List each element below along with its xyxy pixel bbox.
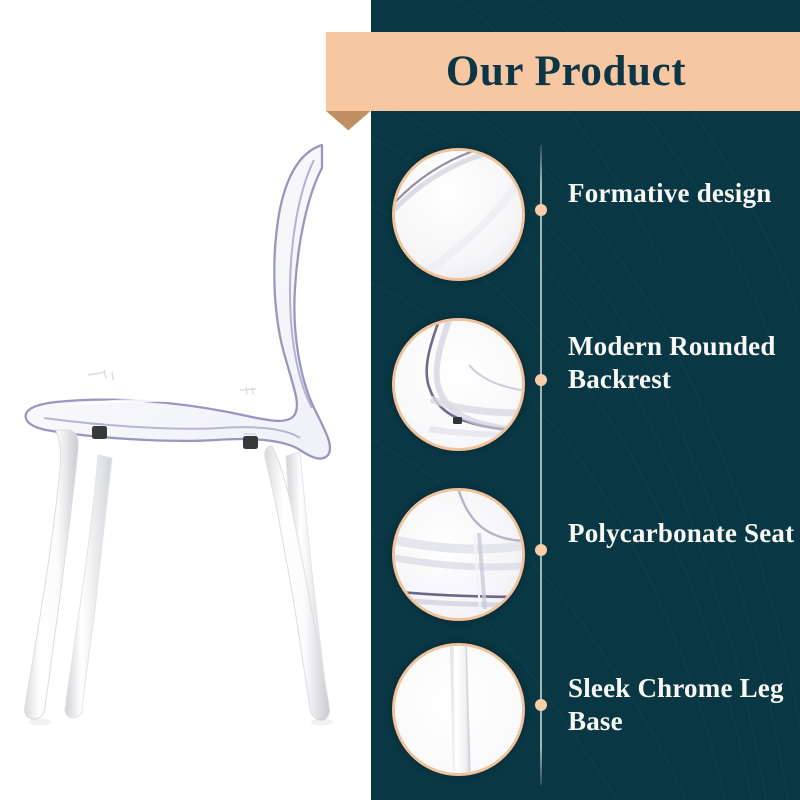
feature-bullet-dot [535,374,547,386]
feature-label: Modern Rounded Backrest [568,330,800,396]
feature-row[interactable]: Polycarbonate Seat [371,481,800,631]
thumbnail-chrome-leg-base[interactable] [392,643,525,776]
feature-list: Formative design [371,0,800,800]
thumbnail-rounded-backrest[interactable] [392,318,525,451]
product-image-pane [0,0,372,800]
feature-row[interactable]: Modern Rounded Backrest [371,311,800,461]
feature-bullet-dot [535,544,547,556]
feature-row[interactable]: Formative design [371,141,800,291]
thumbnail-polycarbonate-seat[interactable] [392,488,525,621]
feature-row[interactable]: Sleek Chrome Leg Base [371,636,800,786]
feature-label: Formative design [568,177,800,210]
feature-bullet-dot [535,699,547,711]
feature-bullet-dot [535,204,547,216]
feature-label: Sleek Chrome Leg Base [568,672,800,738]
page-title: Our Product [326,32,800,111]
product-feature-poster: Our Product [0,0,800,800]
product-chair-image [0,0,372,800]
thumbnail-formative-design[interactable] [392,148,525,281]
feature-label: Polycarbonate Seat [568,517,800,550]
